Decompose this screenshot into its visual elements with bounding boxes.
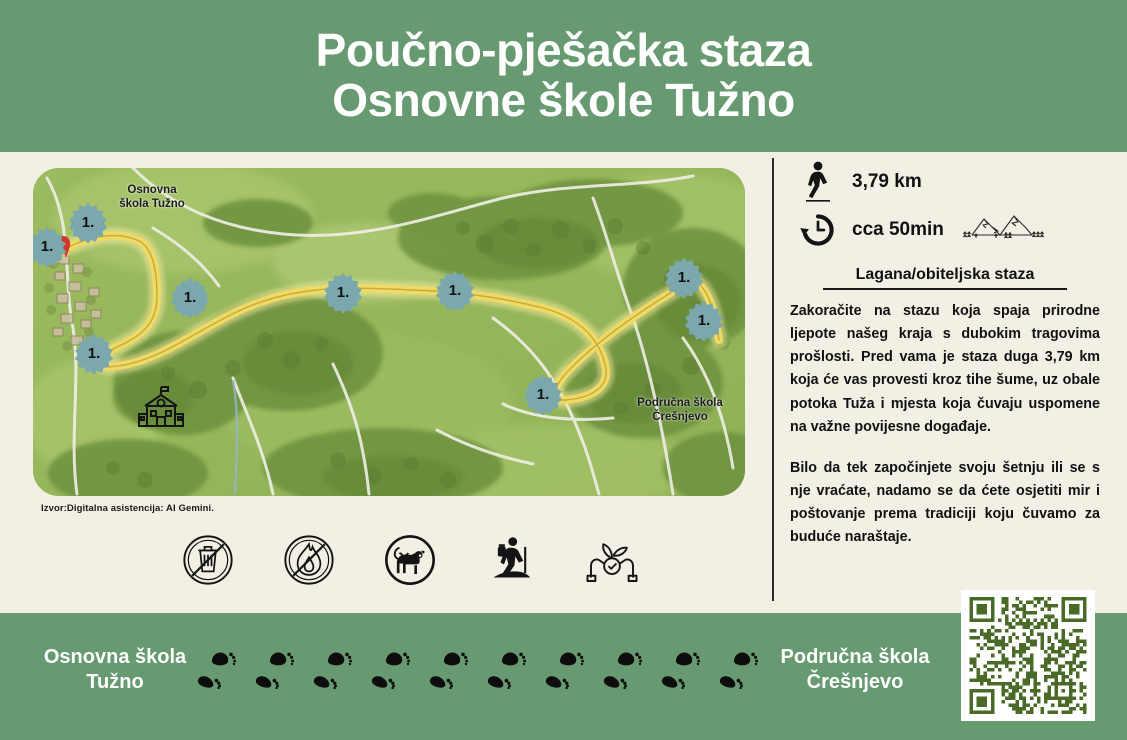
title-line-2: Osnovne škole Tužno	[316, 76, 812, 126]
page-title: Poučno-pješačka staza Osnovne škole Tužn…	[316, 26, 812, 125]
footprint-pair	[660, 645, 704, 701]
trail-marker[interactable]: 1.	[73, 332, 115, 374]
marker-label: 1.	[683, 299, 725, 341]
info-sidebar: 3,79 km cca 50min	[790, 158, 1100, 550]
trail-marker[interactable]: 1.	[169, 276, 211, 318]
description-paragraph-2: Bilo da tek započinjete svoju šetnju ili…	[790, 457, 1100, 550]
subtitle-underline	[823, 288, 1067, 290]
trail-marker[interactable]: 1.	[434, 269, 476, 311]
duration-value: cca 50min	[852, 219, 944, 241]
footer-end-label: Područna škola Črešnjevo	[760, 645, 950, 695]
footer-start-label: Osnovna škola Tužno	[20, 645, 210, 695]
trail-marker[interactable]: 1.	[67, 201, 109, 243]
trail-marker[interactable]: 1.	[522, 373, 564, 415]
marker-label: 1.	[67, 201, 109, 243]
footprint-pair	[718, 645, 762, 701]
trail-marker[interactable]: 1.	[663, 256, 705, 298]
footprint-pair	[370, 645, 414, 701]
footprint-trail	[196, 643, 762, 703]
map-terrain	[33, 168, 745, 496]
no-fire-icon	[281, 532, 337, 588]
trail-marker[interactable]: 1.	[322, 271, 364, 313]
marker-label: 1.	[522, 373, 564, 415]
walking-person-icon	[790, 161, 846, 203]
description-paragraph-1: Zakoračite na stazu koja spaja prirodne …	[790, 300, 1100, 439]
marker-label: 1.	[322, 271, 364, 313]
no-littering-icon	[180, 532, 236, 588]
footprint-pair	[254, 645, 298, 701]
marker-label: 1.	[663, 256, 705, 298]
footprint-pair	[196, 645, 240, 701]
hiker-icon	[483, 532, 539, 588]
marker-label: 1.	[169, 276, 211, 318]
footprint-pair	[602, 645, 646, 701]
trail-marker[interactable]: 1.	[33, 225, 68, 267]
school-building-icon	[137, 384, 185, 435]
vertical-divider	[772, 158, 774, 601]
distance-value: 3,79 km	[852, 171, 922, 193]
footprint-pair	[544, 645, 588, 701]
clock-icon	[790, 211, 846, 249]
distance-row: 3,79 km	[790, 158, 1100, 206]
mountains-icon	[962, 211, 1046, 250]
footprint-pair	[486, 645, 530, 701]
map-credit: Izvor:Digitalna asistencija: AI Gemini.	[41, 503, 214, 514]
qr-code[interactable]	[961, 590, 1095, 721]
trail-marker[interactable]: 1.	[683, 299, 725, 341]
title-line-1: Poučno-pješačka staza	[316, 24, 812, 76]
protect-nature-icon	[584, 532, 640, 588]
map-canvas	[33, 168, 745, 496]
marker-label: 1.	[434, 269, 476, 311]
dog-on-leash-icon	[382, 532, 438, 588]
trail-map[interactable]: 1. 1. 1. 1. 1.	[33, 168, 745, 496]
trail-rules	[180, 524, 640, 596]
poster-root: Poučno-pješačka staza Osnovne škole Tužn…	[0, 0, 1127, 740]
trail-difficulty-title: Lagana/obiteljska staza	[790, 266, 1100, 284]
poster-header: Poučno-pješačka staza Osnovne škole Tužn…	[0, 0, 1127, 152]
description-text: Zakoračite na stazu koja spaja prirodne …	[790, 300, 1100, 550]
qr-code-image	[968, 597, 1088, 714]
footprint-pair	[428, 645, 472, 701]
footprint-pair	[312, 645, 356, 701]
duration-row: cca 50min	[790, 206, 1100, 254]
marker-label: 1.	[73, 332, 115, 374]
marker-label: 1.	[33, 225, 68, 267]
